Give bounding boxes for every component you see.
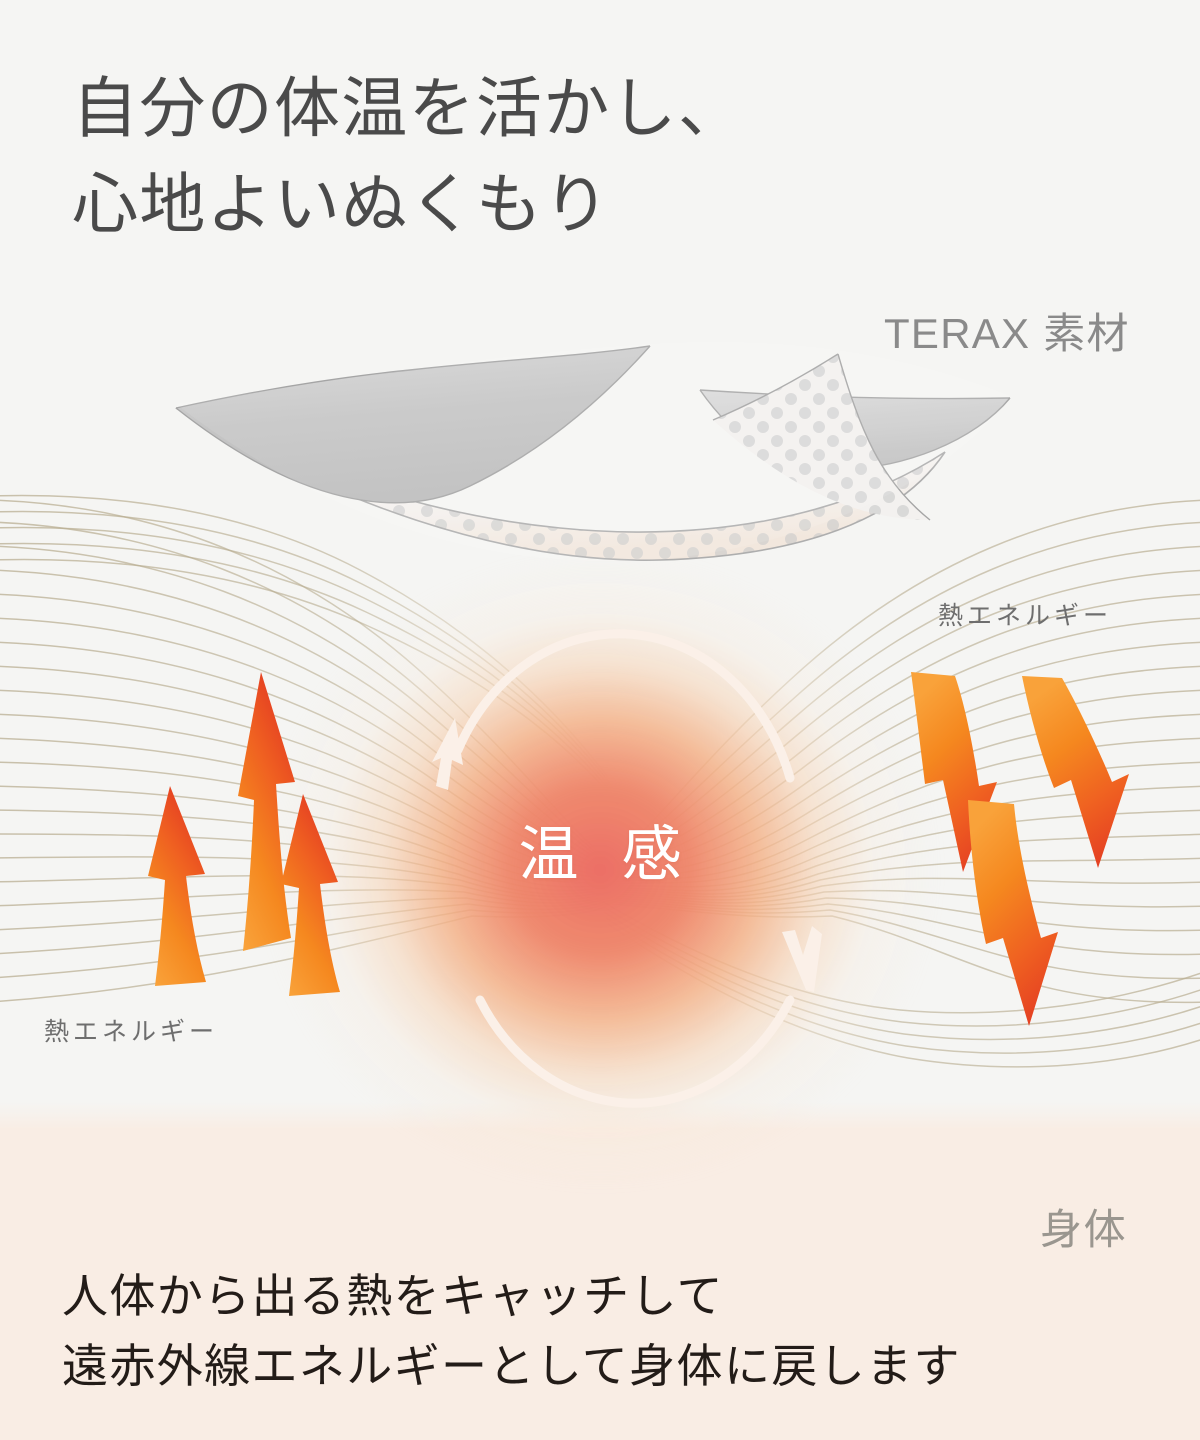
bottom-description-copy: 人体から出る熱をキャッチして 遠赤外線エネルギーとして身体に戻します (62, 1262, 1182, 1402)
body-label: 身体 (1040, 1196, 1127, 1257)
poster-canvas: 自分の体温を活かし、 心地よいぬくもり TERAX 素材 熱エネルギー 熱エネル… (0, 0, 1200, 1440)
heat-energy-label-left: 熱エネルギー (44, 1012, 218, 1048)
heat-energy-label-right: 熱エネルギー (938, 596, 1112, 632)
terax-material-label: TERAX 素材 (884, 300, 1130, 361)
page-headline: 自分の体温を活かし、 心地よいぬくもり (72, 62, 872, 253)
warmth-sensation-label: 温 感 (0, 806, 1200, 893)
